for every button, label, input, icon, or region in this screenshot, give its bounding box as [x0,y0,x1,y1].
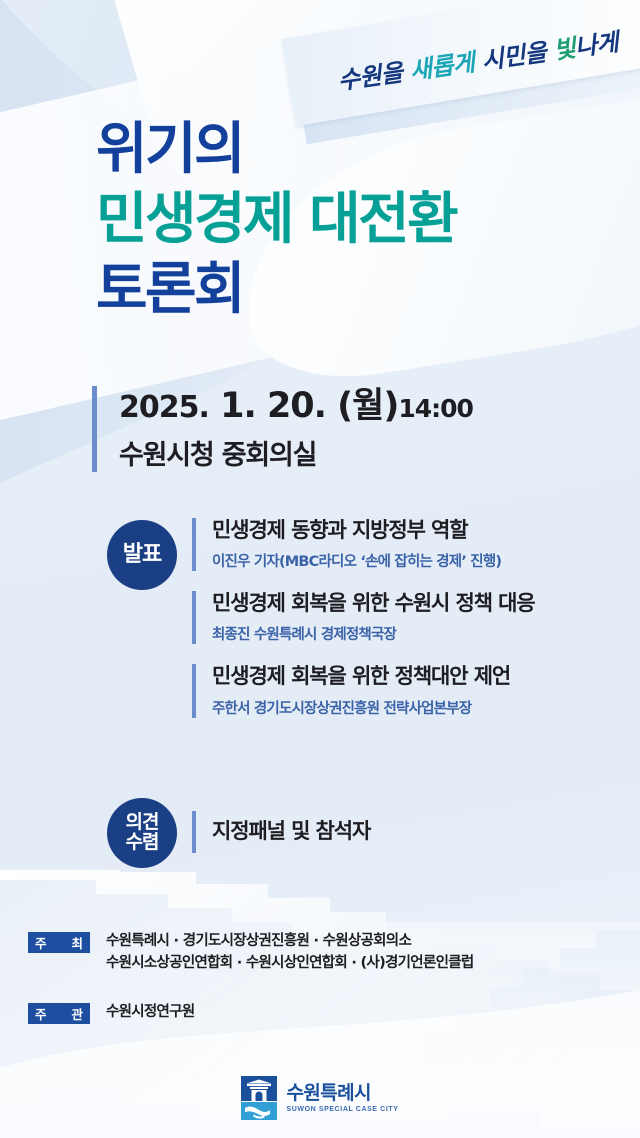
event-date: 2025. 1. 20. (월)14:00 [119,386,473,427]
status-badge: 의견 수렴 [107,798,177,868]
organizer-section: 주 최 수원특례시 · 경기도시장상권진흥원 · 수원상공회의소 수원시소상공인… [28,930,618,1024]
organizer-row: 주 관 수원시정연구원 [28,1001,618,1024]
opinion-items: 지정패널 및 참석자 [192,811,592,853]
presentation-speaker: 최종진 수원특례시 경제정책국장 [212,623,592,644]
opinion-section: 의견 수렴 지정패널 및 참석자 [92,796,592,868]
presentation-items: 민생경제 동향과 지방정부 역할 이진우 기자(MBC라디오 ‘손에 잡히는 경… [192,518,592,718]
page-title: 위기의 민생경제 대전환 토론회 [96,122,456,332]
opinion-badge-line-1: 의견 [126,813,159,833]
date-day: 20. [267,386,337,426]
date-weekday: (월) [337,386,398,426]
presentation-badge-column: 발표 [92,518,192,590]
title-line-2: 민생경제 대전환 [96,192,456,248]
list-item: 지정패널 및 참석자 [192,811,592,853]
suwon-emblem-icon [241,1076,277,1120]
event-time: 14:00 [398,394,473,423]
presentation-speaker: 주한서 경기도시장상권진흥원 전략사업본부장 [212,697,592,718]
title-line-3: 토론회 [96,262,456,318]
list-item: 민생경제 동향과 지방정부 역할 이진우 기자(MBC라디오 ‘손에 잡히는 경… [192,518,592,571]
list-item: 민생경제 회복을 위한 수원시 정책 대응 최종진 수원특례시 경제정책국장 [192,591,592,644]
logo-name-english: SUWON SPECIAL CASE CITY [286,1106,398,1113]
organizer-label-char-1: 주 [35,1004,47,1023]
presentation-title: 민생경제 회복을 위한 정책대안 제언 [212,664,592,689]
opinion-badge-column: 의견 수렴 [92,796,192,868]
date-month: 1. [209,386,267,426]
host-names-line-1: 수원특례시 · 경기도시장상권진흥원 · 수원상공회의소 [106,930,474,952]
host-label-badge: 주 최 [28,932,90,953]
title-line-1: 위기의 [96,122,456,178]
opinion-title: 지정패널 및 참석자 [212,819,370,844]
schedule-block: 2025. 1. 20. (월)14:00 수원시청 중회의실 [92,386,473,472]
host-label-char-2: 최 [71,933,83,952]
city-logo: 수원특례시 SUWON SPECIAL CASE CITY [0,1076,640,1120]
logo-wordmark: 수원특례시 SUWON SPECIAL CASE CITY [286,1083,398,1113]
event-venue: 수원시청 중회의실 [119,433,473,472]
host-label-char-1: 주 [35,933,47,952]
organizer-label-badge: 주 관 [28,1003,90,1024]
date-year: 2025. [119,390,209,425]
opinion-badge-line-2: 수렴 [126,833,159,853]
presentation-group: 발표 민생경제 동향과 지방정부 역할 이진우 기자(MBC라디오 ‘손에 잡히… [92,518,592,718]
presentation-title: 민생경제 동향과 지방정부 역할 [212,518,592,543]
host-row: 주 최 수원특례시 · 경기도시장상권진흥원 · 수원상공회의소 수원시소상공인… [28,930,618,975]
presentation-title: 민생경제 회복을 위한 수원시 정책 대응 [212,591,592,616]
status-badge: 발표 [107,520,177,590]
organizer-names-line-1: 수원시정연구원 [106,1001,194,1023]
organizer-names: 수원시정연구원 [106,1001,194,1023]
slogan-part-5: 나게 [574,28,621,62]
poster-content: 위기의 민생경제 대전환 토론회 2025. 1. 20. (월)14:00 수… [0,0,640,1138]
host-names: 수원특례시 · 경기도시장상권진흥원 · 수원상공회의소 수원시소상공인연합회 … [106,930,474,975]
organizer-label-char-2: 관 [71,1004,83,1023]
event-poster: 수원을 새롭게 시민을 빛나게 위기의 민생경제 대전환 토론회 2025. 1… [0,0,640,1138]
list-item: 민생경제 회복을 위한 정책대안 제언 주한서 경기도시장상권진흥원 전략사업본… [192,664,592,717]
presentation-speaker: 이진우 기자(MBC라디오 ‘손에 잡히는 경제’ 진행) [212,550,592,571]
logo-name-korean: 수원특례시 [286,1083,398,1104]
host-names-line-2: 수원시소상공인연합회 · 수원시상인연합회 · (사)경기언론인클럽 [106,952,474,974]
presentation-section: 발표 민생경제 동향과 지방정부 역할 이진우 기자(MBC라디오 ‘손에 잡히… [92,518,592,718]
